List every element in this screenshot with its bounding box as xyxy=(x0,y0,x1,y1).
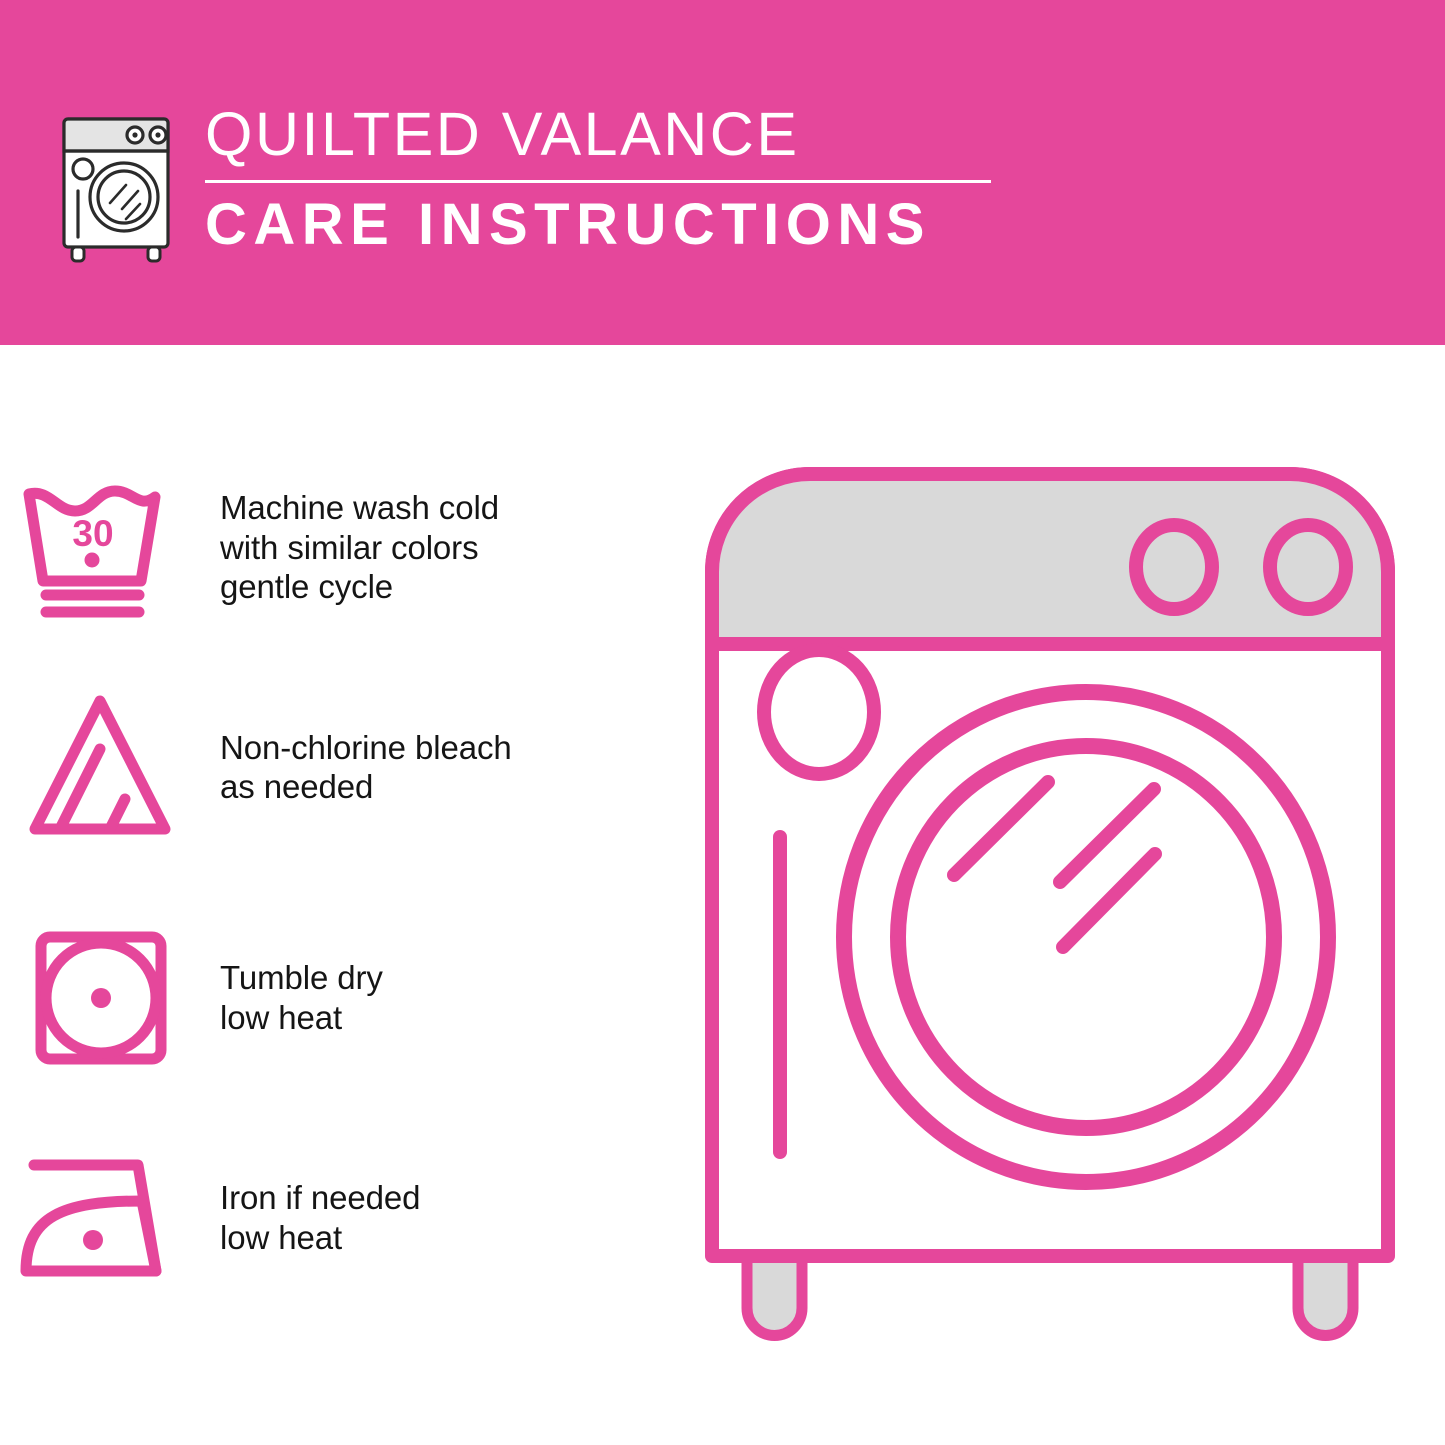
washer-leg-right xyxy=(1298,1252,1353,1335)
washer-door-inner-ring xyxy=(898,746,1274,1128)
care-row-machine-wash: 30 Machine wash cold with similar colors… xyxy=(0,455,650,640)
care-label-line: low heat xyxy=(220,998,383,1038)
care-label-machine-wash: Machine wash cold with similar colors ge… xyxy=(220,488,499,607)
wash-tub-30-gentle-icon: 30 xyxy=(0,473,200,623)
washer-knob-2 xyxy=(1270,525,1346,609)
care-row-iron: Iron if needed low heat xyxy=(0,1130,650,1305)
care-label-line: Machine wash cold xyxy=(220,488,499,528)
care-label-iron: Iron if needed low heat xyxy=(220,1178,420,1257)
care-label-line: Tumble dry xyxy=(220,958,383,998)
care-label-line: Non-chlorine bleach xyxy=(220,728,512,768)
wash-temperature-label: 30 xyxy=(72,513,113,554)
title-divider xyxy=(205,180,991,183)
page-subtitle: CARE INSTRUCTIONS xyxy=(205,193,995,257)
care-row-tumble-dry: Tumble dry low heat xyxy=(0,910,650,1085)
header-banner: QUILTED VALANCE CARE INSTRUCTIONS xyxy=(0,0,1445,345)
care-row-bleach: Non-chlorine bleach as needed xyxy=(0,677,650,857)
iron-low-heat-icon xyxy=(0,1143,200,1293)
washer-leg-left xyxy=(747,1252,802,1335)
triangle-non-chlorine-bleach-icon xyxy=(0,687,200,847)
care-label-line: Iron if needed xyxy=(220,1178,420,1218)
header-content: QUILTED VALANCE CARE INSTRUCTIONS xyxy=(58,100,995,265)
care-label-line: gentle cycle xyxy=(220,567,499,607)
care-label-bleach: Non-chlorine bleach as needed xyxy=(220,728,512,807)
care-label-line: low heat xyxy=(220,1218,420,1258)
washing-machine-logo-icon xyxy=(58,105,183,265)
tumble-dry-low-heat-icon xyxy=(0,923,200,1073)
washer-detergent-dial xyxy=(764,650,874,774)
care-label-tumble-dry: Tumble dry low heat xyxy=(220,958,383,1037)
washer-knob-1 xyxy=(1136,525,1212,609)
front-load-washing-machine-illustration xyxy=(700,462,1400,1372)
care-label-line: as needed xyxy=(220,767,512,807)
header-title-block: QUILTED VALANCE CARE INSTRUCTIONS xyxy=(205,100,995,257)
care-label-line: with similar colors xyxy=(220,528,499,568)
page-title: QUILTED VALANCE xyxy=(205,100,995,168)
